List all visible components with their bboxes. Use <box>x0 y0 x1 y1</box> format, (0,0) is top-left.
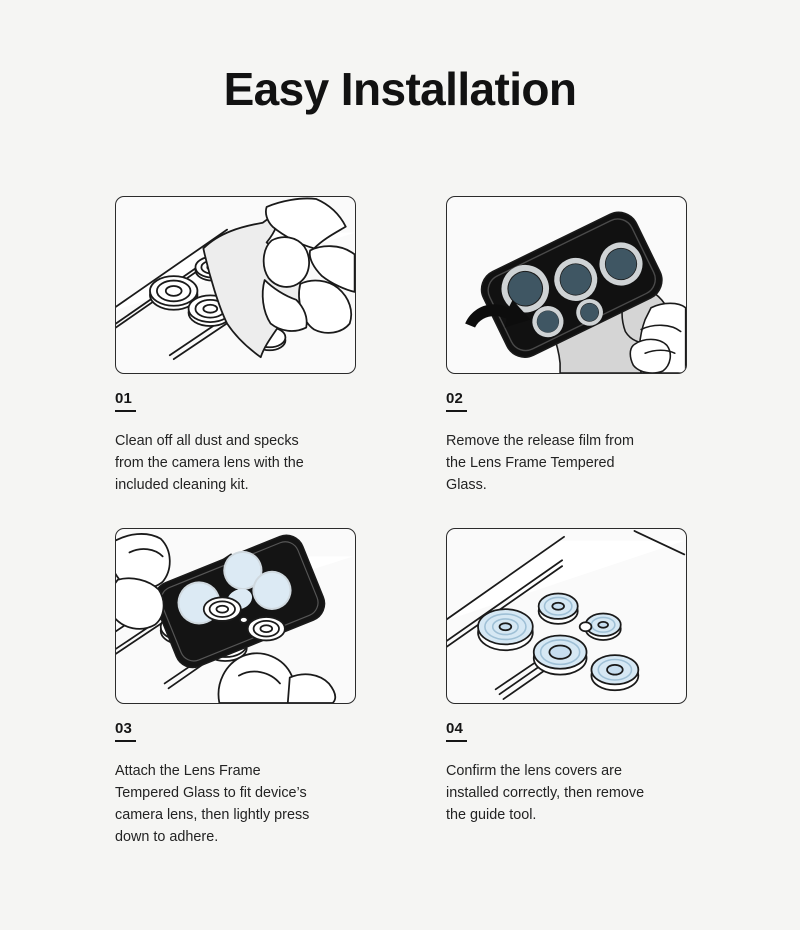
step-number-01: 01 <box>115 390 132 412</box>
page-title: Easy Installation <box>0 62 800 116</box>
steps-grid: 01 Clean off all dust and specks from th… <box>115 196 687 848</box>
step-card-04: 04 Confirm the lens covers are installed… <box>446 528 687 848</box>
step-card-02: 02 Remove the release film from the Lens… <box>446 196 687 496</box>
step-description-02: Remove the release film from the Lens Fr… <box>446 430 678 496</box>
attach-lens-frame-illustration <box>116 529 355 703</box>
step-card-03: 03 Attach the Lens Frame Tempered Glass … <box>115 528 356 848</box>
step-number-03: 03 <box>115 720 132 742</box>
cleaning-cloth-illustration <box>116 197 355 373</box>
illustration-panel-01 <box>115 196 356 374</box>
step-number-04: 04 <box>446 720 463 742</box>
illustration-panel-03 <box>115 528 356 704</box>
step-description-01: Clean off all dust and specks from the c… <box>115 430 347 496</box>
release-film-peel-illustration <box>447 197 686 373</box>
installed-lens-covers-illustration <box>447 529 686 703</box>
step-description-03: Attach the Lens Frame Tempered Glass to … <box>115 760 347 848</box>
illustration-panel-02 <box>446 196 687 374</box>
illustration-panel-04 <box>446 528 687 704</box>
step-description-04: Confirm the lens covers are installed co… <box>446 760 678 826</box>
installation-guide-page: Easy Installation <box>0 0 800 930</box>
step-card-01: 01 Clean off all dust and specks from th… <box>115 196 356 496</box>
step-number-02: 02 <box>446 390 463 412</box>
